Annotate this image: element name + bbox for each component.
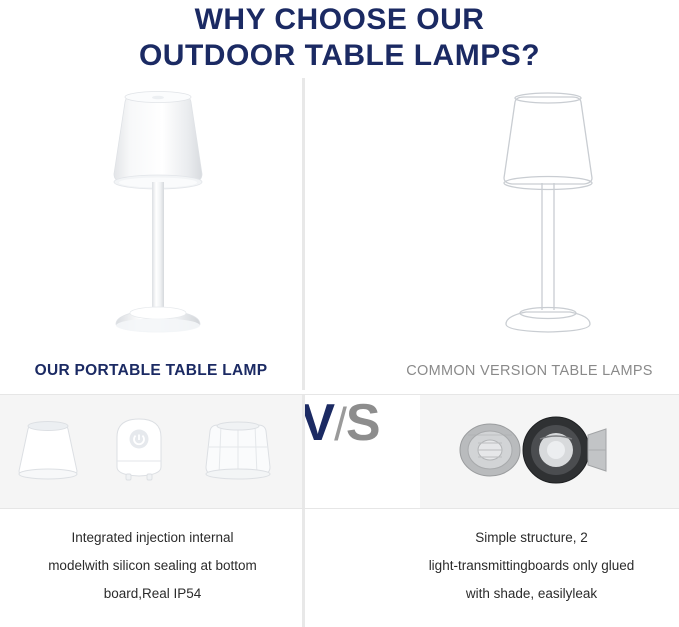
left-column-caption: OUR PORTABLE TABLE LAMP — [0, 362, 302, 380]
dark-lamp-head-part-icon — [523, 417, 589, 483]
page-title: WHY CHOOSE OUR OUTDOOR TABLE LAMPS? — [0, 0, 679, 74]
metal-bracket-part-icon — [588, 429, 606, 471]
right-description-line-2: light-transmittingboards only glued — [390, 552, 673, 580]
lamp-body-part-icon — [117, 419, 161, 480]
left-description-line-3: board,Real IP54 — [10, 580, 295, 608]
product-comparison-page: WHY CHOOSE OUR OUTDOOR TABLE LAMPS? — [0, 0, 679, 627]
our-portable-table-lamp-image — [78, 82, 238, 342]
lamp-outline-illustration — [468, 82, 628, 342]
common-version-table-lamp-image — [468, 82, 628, 342]
shade-part-icon — [19, 422, 77, 480]
horizontal-divider-middle — [0, 508, 679, 509]
right-column-caption: COMMON VERSION TABLE LAMPS — [380, 363, 679, 379]
metal-disc-part-icon — [460, 424, 520, 476]
hero-lamp-comparison: V/S — [0, 78, 679, 390]
vertical-divider-top — [302, 78, 305, 390]
page-title-line-2: OUTDOOR TABLE LAMPS? — [0, 38, 679, 74]
internal-injection-model-icon — [206, 422, 270, 479]
left-description-line-2: modelwith silicon sealing at bottom — [10, 552, 295, 580]
right-description-line-1: Simple structure, 2 — [390, 524, 673, 552]
right-description-line-3: with shade, easilyleak — [390, 580, 673, 608]
left-description-line-1: Integrated injection internal — [10, 524, 295, 552]
left-column-description: Integrated injection internal modelwith … — [10, 524, 295, 608]
lamp-filled-illustration — [78, 82, 238, 342]
common-lamp-parts-illustration — [420, 395, 679, 508]
component-parts-strip — [0, 395, 679, 508]
page-title-line-1: WHY CHOOSE OUR — [0, 0, 679, 38]
common-lamp-parts-panel — [420, 395, 679, 508]
our-lamp-parts-panel — [0, 395, 302, 508]
right-column-description: Simple structure, 2 light-transmittingbo… — [390, 524, 673, 608]
our-lamp-parts-illustration — [0, 395, 302, 508]
